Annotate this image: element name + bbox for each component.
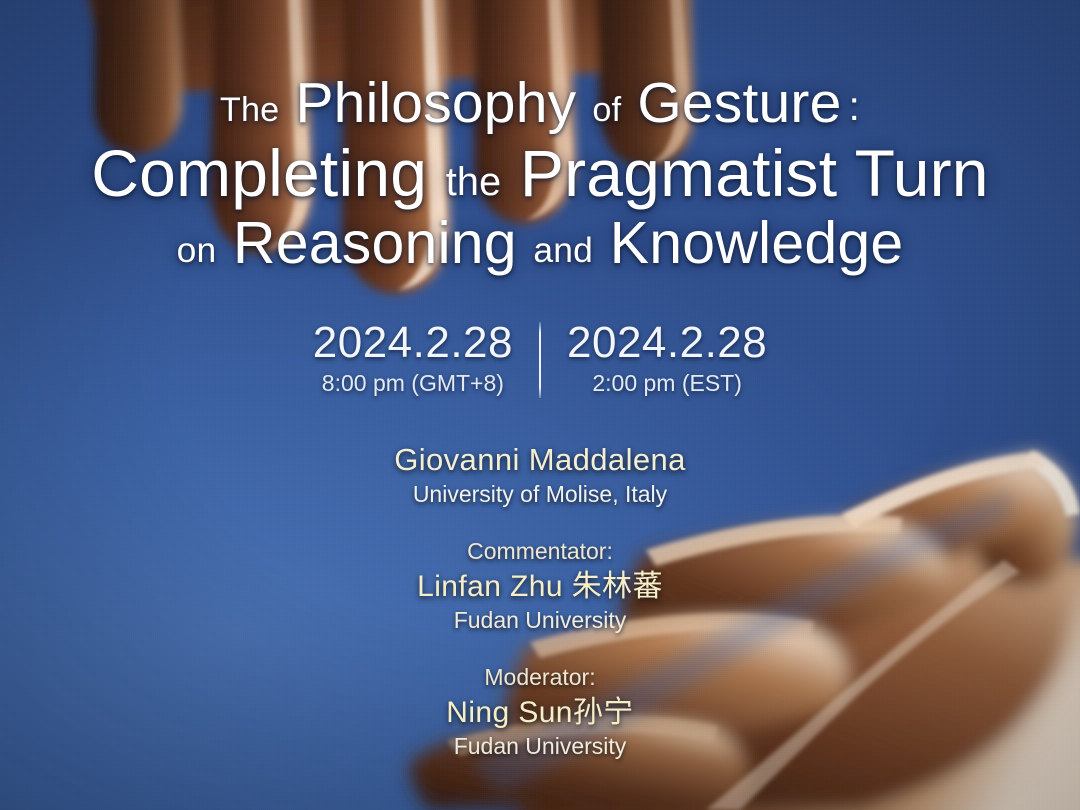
title-word: Pragmatist Turn <box>520 136 989 210</box>
people-list: Giovanni Maddalena University of Molise,… <box>0 440 1080 762</box>
date-time: 8:00 pm (GMT+8) <box>322 369 504 398</box>
title-word: Completing <box>91 136 427 210</box>
person-name: Giovanni Maddalena <box>0 440 1080 480</box>
title-line-2: Completing the Pragmatist Turn <box>0 140 1080 207</box>
title-word: Knowledge <box>610 210 904 276</box>
person-commentator: Commentator: Linfan Zhu 朱林蕃 Fudan Univer… <box>0 536 1080 636</box>
person-speaker: Giovanni Maddalena University of Molise,… <box>0 440 1080 510</box>
title-word: Gesture <box>637 71 841 135</box>
title-word: and <box>533 230 593 270</box>
date-time: 2:00 pm (EST) <box>592 369 742 398</box>
title-word: Reasoning <box>233 210 517 276</box>
person-moderator: Moderator: Ning Sun孙宁 Fudan University <box>0 662 1080 762</box>
person-affiliation: University of Molise, Italy <box>0 480 1080 510</box>
date-block-primary: 2024.2.28 8:00 pm (GMT+8) <box>287 320 539 398</box>
person-role: Commentator: <box>0 536 1080 567</box>
poster-title: The Philosophy of Gesture: Completing th… <box>0 74 1080 274</box>
person-name: Linfan Zhu 朱林蕃 <box>0 567 1080 606</box>
date-day: 2024.2.28 <box>313 320 513 367</box>
event-dates: 2024.2.28 8:00 pm (GMT+8) 2024.2.28 2:00… <box>287 320 794 398</box>
title-word: The <box>220 91 280 129</box>
title-word: on <box>177 230 217 270</box>
date-block-secondary: 2024.2.28 2:00 pm (EST) <box>541 320 793 398</box>
title-line-1: The Philosophy of Gesture: <box>0 74 1080 132</box>
title-word: of <box>592 91 621 129</box>
person-role: Moderator: <box>0 662 1080 693</box>
title-colon: : <box>842 83 861 129</box>
person-name: Ning Sun孙宁 <box>0 693 1080 732</box>
person-affiliation: Fudan University <box>0 732 1080 762</box>
title-line-3: on Reasoning and Knowledge <box>0 213 1080 273</box>
person-affiliation: Fudan University <box>0 606 1080 636</box>
date-day: 2024.2.28 <box>567 320 767 367</box>
title-word: Philosophy <box>295 71 576 135</box>
title-word: the <box>446 160 502 204</box>
event-poster: The Philosophy of Gesture: Completing th… <box>0 0 1080 810</box>
